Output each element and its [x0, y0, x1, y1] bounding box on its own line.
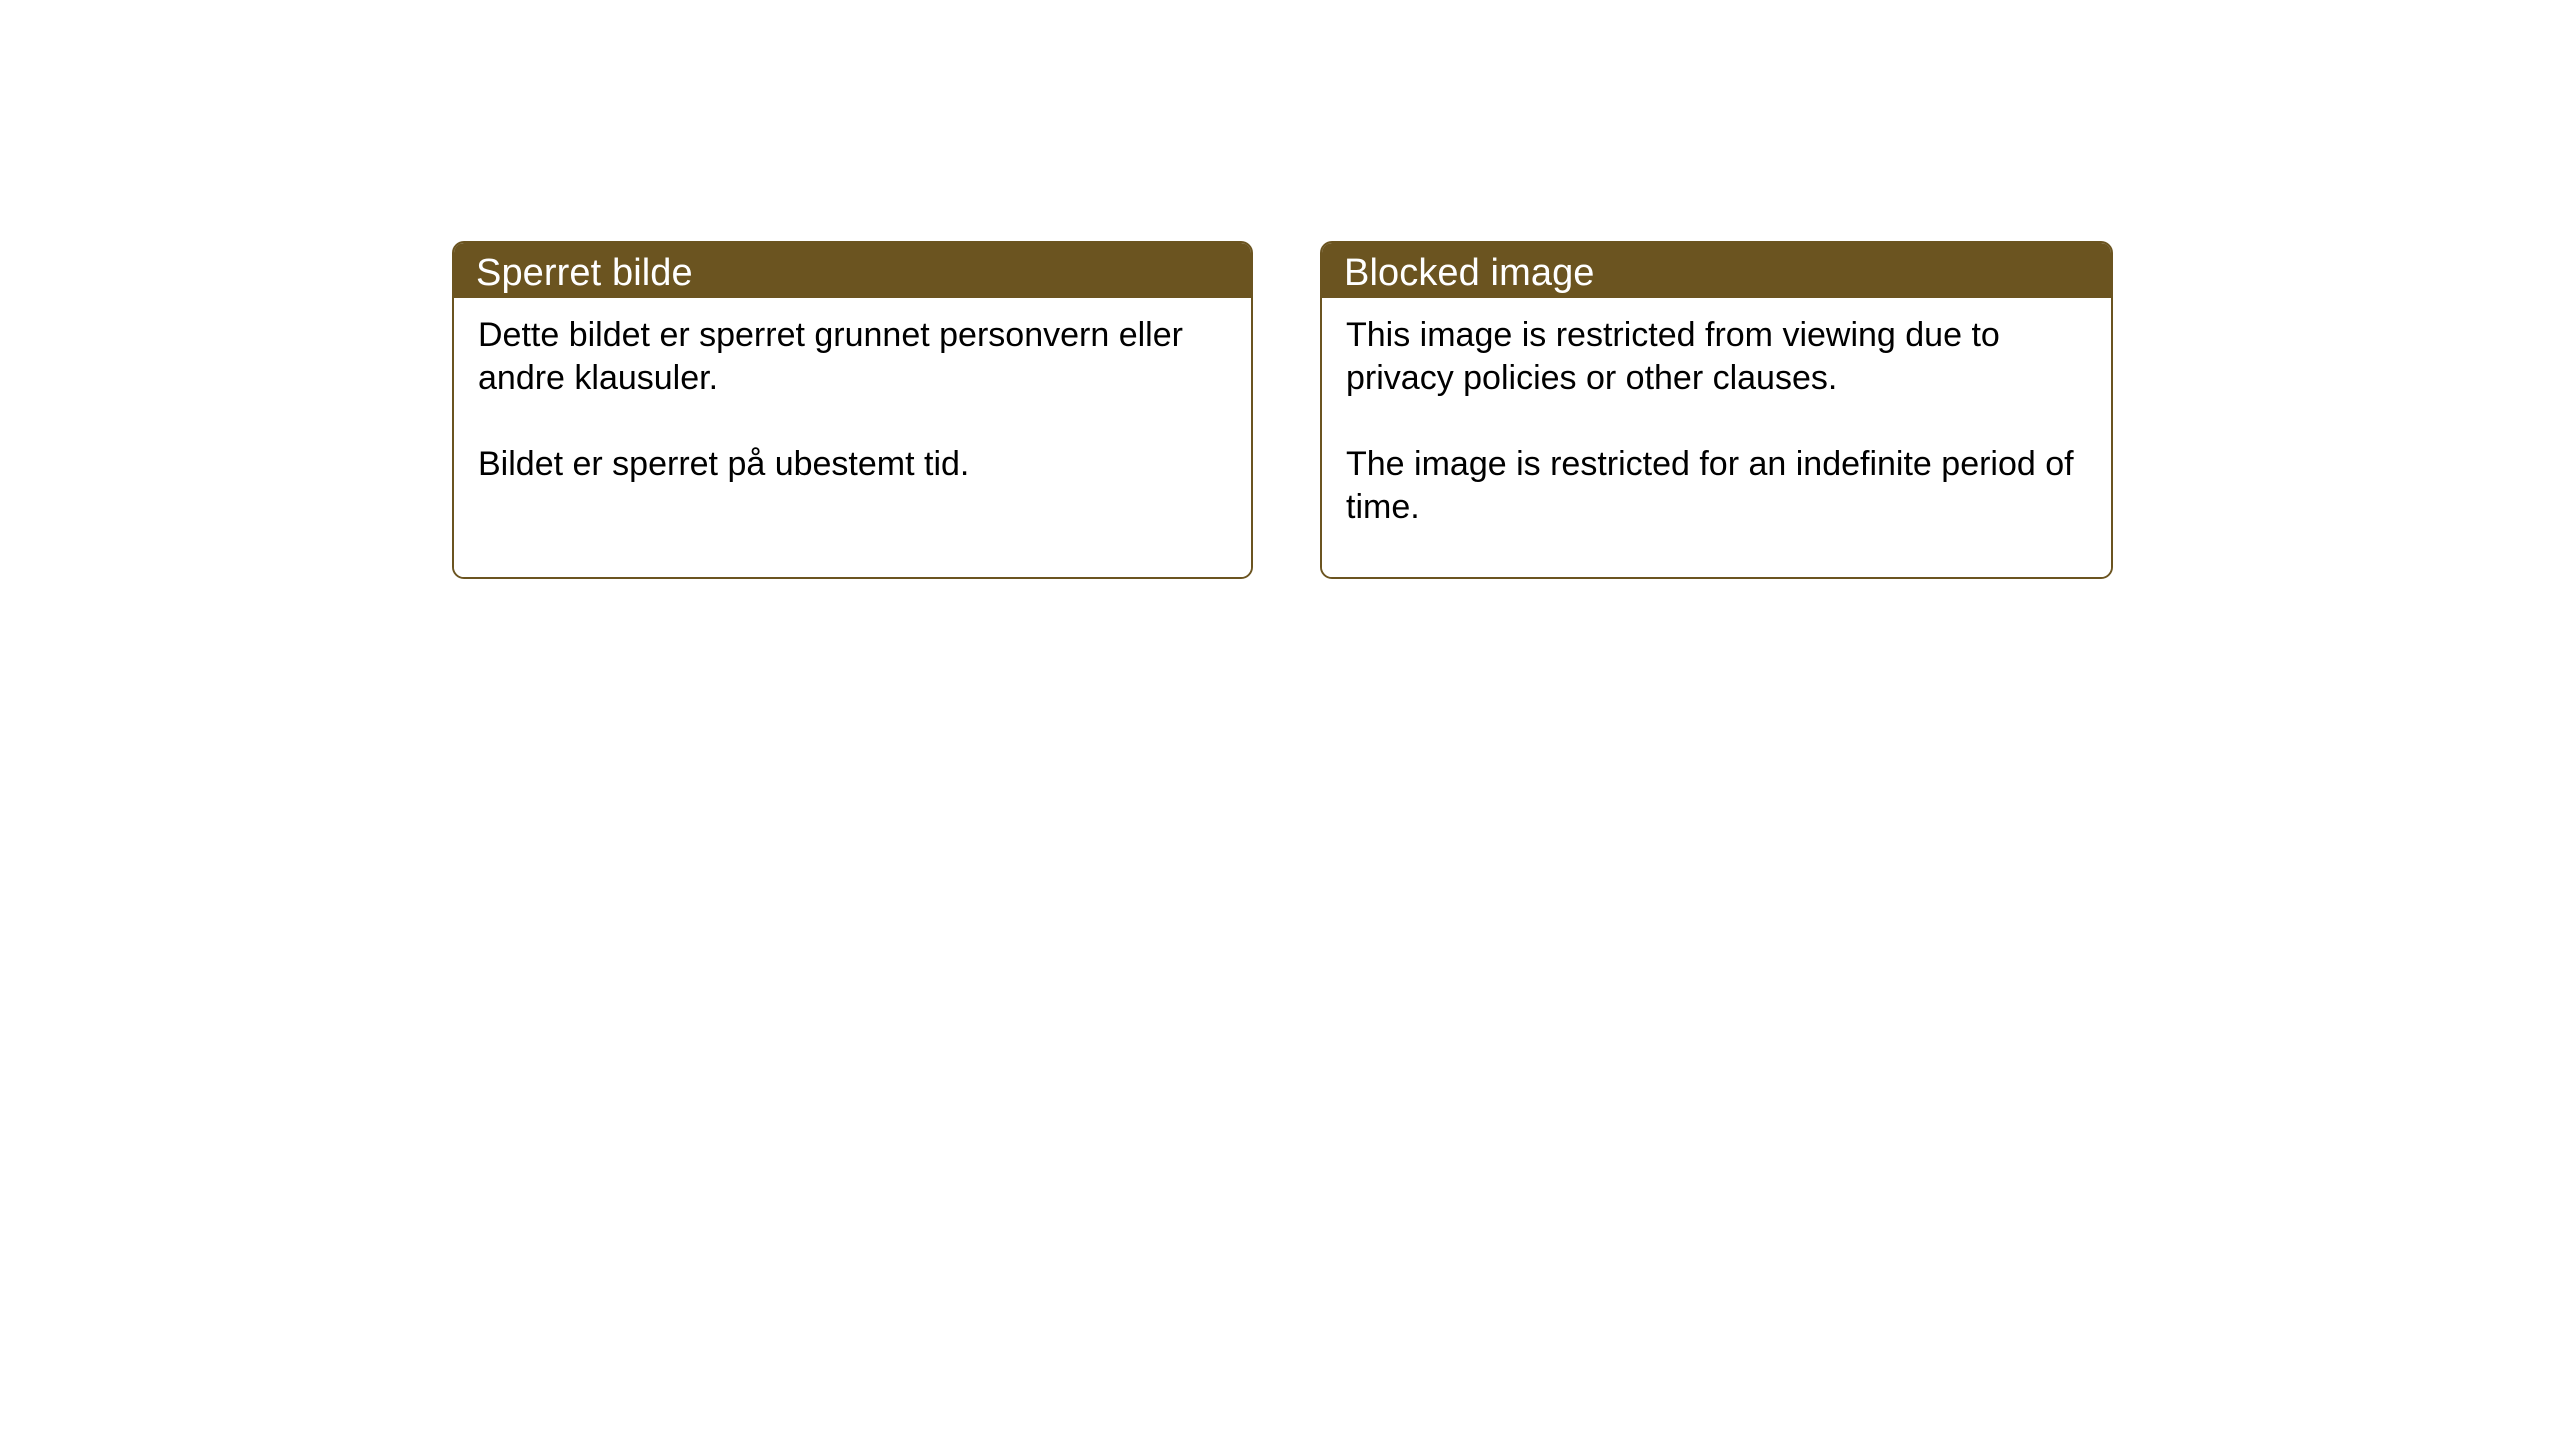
paragraph-spacer: [478, 400, 1231, 443]
panel-paragraph-english-1: This image is restricted from viewing du…: [1346, 314, 2091, 400]
paragraph-spacer: [1346, 400, 2091, 443]
panel-paragraph-norwegian-2: Bildet er sperret på ubestemt tid.: [478, 443, 1231, 486]
panel-paragraph-english-2: The image is restricted for an indefinit…: [1346, 443, 2091, 529]
panel-title-norwegian: Sperret bilde: [454, 243, 1251, 298]
panel-body-norwegian: Dette bildet er sperret grunnet personve…: [454, 298, 1251, 577]
blocked-image-notice-group: Sperret bilde Dette bildet er sperret gr…: [452, 241, 2113, 579]
blocked-image-panel-norwegian: Sperret bilde Dette bildet er sperret gr…: [452, 241, 1253, 579]
panel-paragraph-norwegian-1: Dette bildet er sperret grunnet personve…: [478, 314, 1231, 400]
panel-body-english: This image is restricted from viewing du…: [1322, 298, 2111, 577]
panel-title-english: Blocked image: [1322, 243, 2111, 298]
blocked-image-panel-english: Blocked image This image is restricted f…: [1320, 241, 2113, 579]
